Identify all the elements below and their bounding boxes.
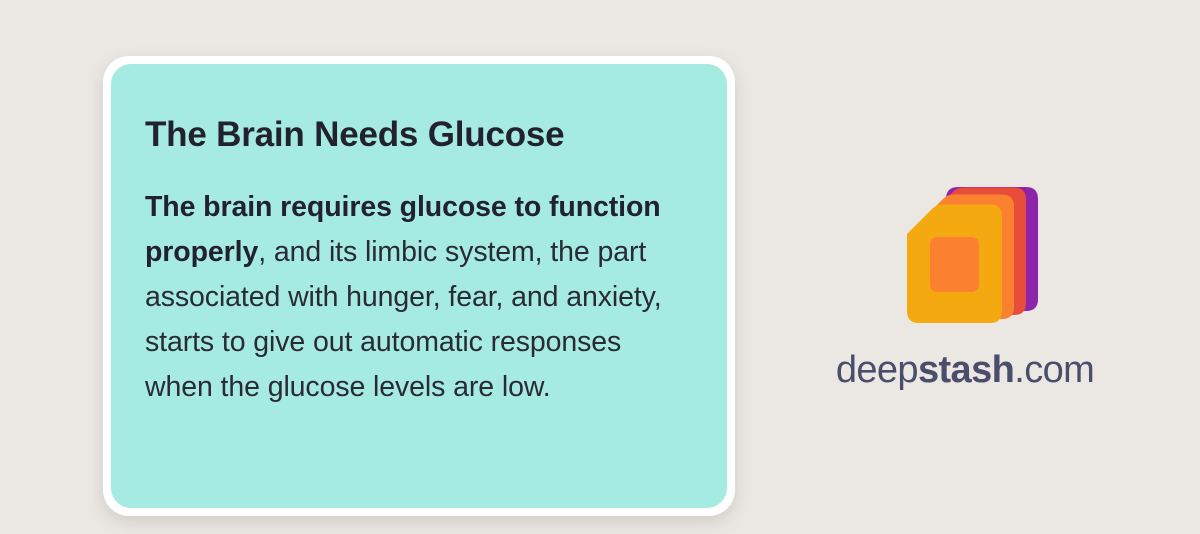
page-title: The Brain Needs Glucose [145, 116, 691, 155]
deepstash-logo-svg [900, 175, 1050, 325]
quote-body: The brain requires glucose to function p… [145, 155, 691, 410]
quote-card: The Brain Needs Glucose The brain requir… [103, 56, 735, 516]
deepstash-wordmark: deepstash.com [800, 348, 1130, 392]
wordmark-stash: stash [918, 349, 1014, 391]
quote-card-inner: The Brain Needs Glucose The brain requir… [111, 64, 727, 508]
brand-block: deepstash.com [800, 170, 1130, 400]
wordmark-com: .com [1014, 349, 1094, 391]
deepstash-logo-icon [900, 175, 1050, 325]
wordmark-deep: deep [836, 349, 918, 391]
page-root: The Brain Needs Glucose The brain requir… [0, 0, 1200, 534]
